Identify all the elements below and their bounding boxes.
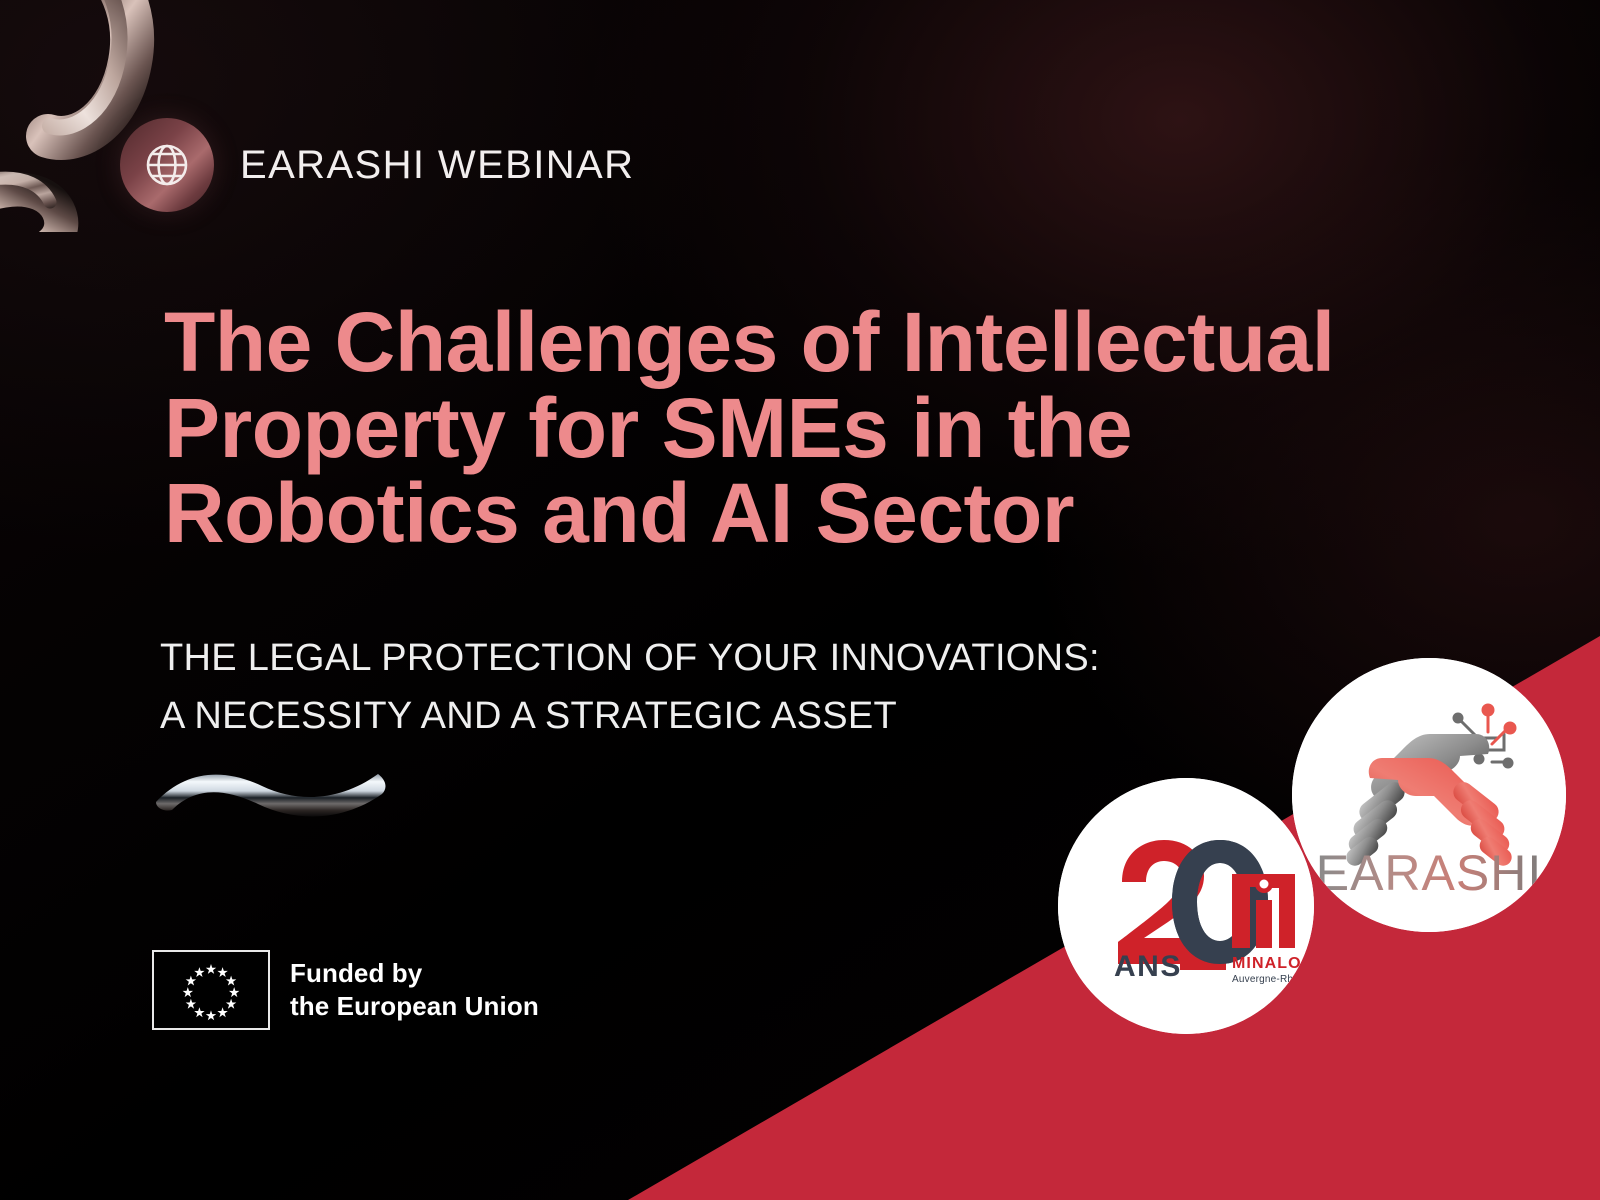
globe-icon [120, 118, 214, 212]
svg-text:MINALOGIC: MINALOGIC [1232, 955, 1314, 972]
eu-flag-icon [152, 950, 270, 1030]
eu-funding-lockup: Funded by the European Union [152, 950, 539, 1030]
eu-funding-label: Funded by the European Union [290, 957, 539, 1024]
slide-title: The Challenges of Intellectual Property … [164, 300, 1564, 557]
slide-canvas: EARASHI WEBINAR The Challenges of Intell… [0, 0, 1600, 1200]
svg-text:EARASHI: EARASHI [1316, 845, 1543, 901]
kicker-lockup: EARASHI WEBINAR [120, 118, 634, 212]
slide-subtitle: THE LEGAL PROTECTION OF YOUR INNOVATIONS… [160, 630, 1310, 746]
earashi-logo: EARASHI [1292, 658, 1566, 932]
minalogic-20-ans-logo: ANS MINALOGIC Auvergne-Rhône-Alpes [1058, 778, 1314, 1034]
chrome-wave-decoration [150, 756, 390, 818]
svg-text:Auvergne-Rhône-Alpes: Auvergne-Rhône-Alpes [1232, 974, 1314, 985]
kicker-label: EARASHI WEBINAR [240, 143, 634, 188]
svg-text:ANS: ANS [1114, 950, 1182, 983]
